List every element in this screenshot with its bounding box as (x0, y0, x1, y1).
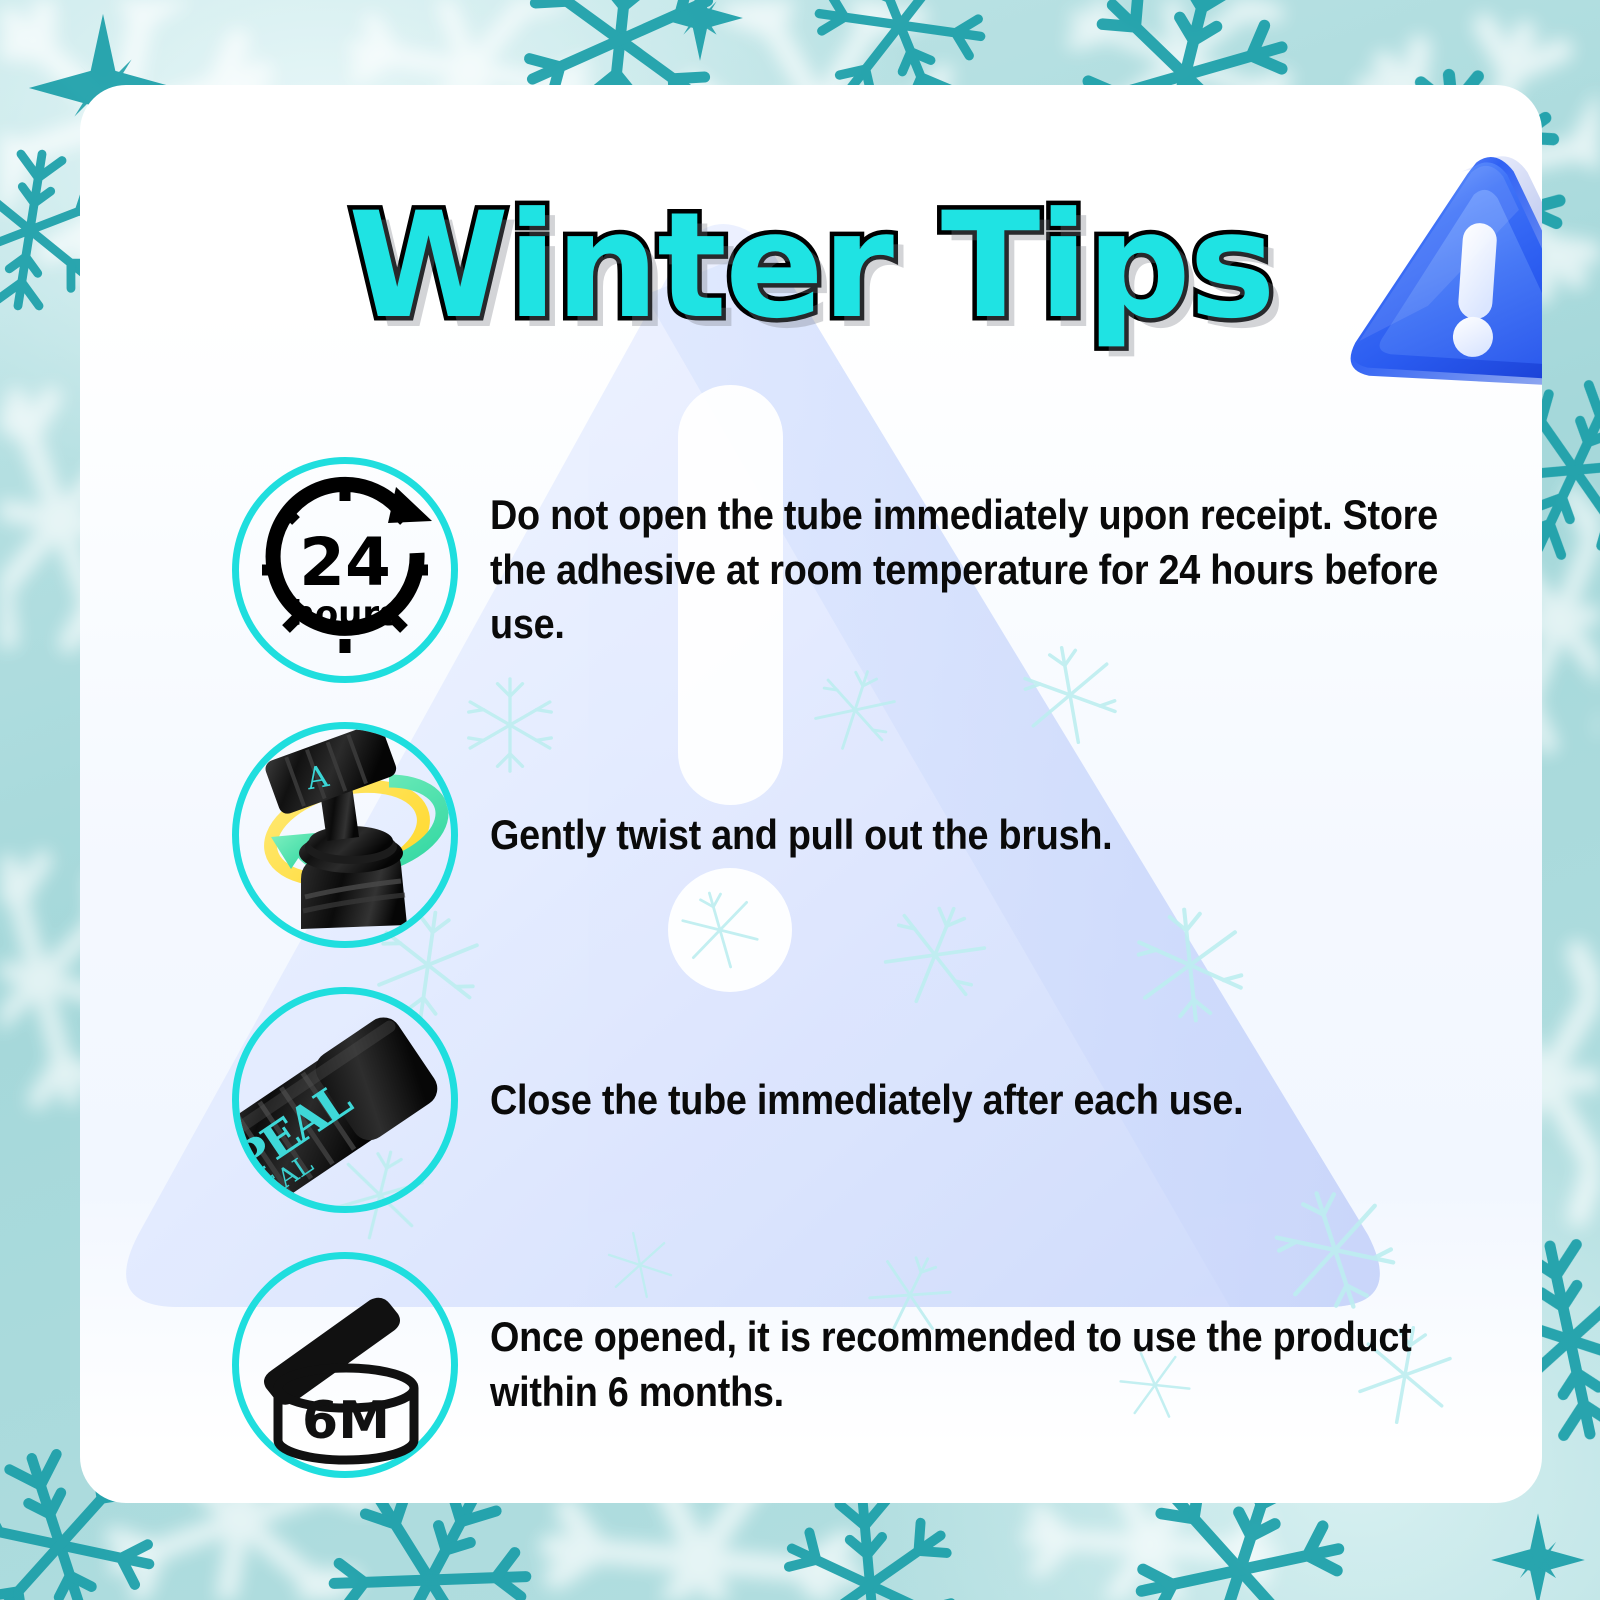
tip-row-period-after-opening: 6M Once opened, it is recommended to use… (232, 1252, 1542, 1478)
icon-clip: A (239, 729, 451, 941)
tips-card: Winter Tips (80, 85, 1542, 1503)
tip-icon-1: A (232, 722, 458, 948)
twist-cap-icon: A (239, 729, 451, 941)
warning-triangle-icon (1326, 129, 1542, 429)
tip-row-twist-cap: A Gently twist and pull out the brush. (232, 722, 1542, 948)
card-inner: Winter Tips (80, 85, 1542, 1503)
clock-hours-number: 24 (299, 524, 391, 601)
tip-row-close-tube: P E A L SEAL Cl (232, 987, 1542, 1213)
tip-text-3: Once opened, it is recommended to use th… (490, 1310, 1464, 1419)
tip-icon-3: 6M (232, 1252, 458, 1478)
icon-clip: P E A L SEAL (239, 994, 451, 1206)
warning-triangle-badge (1326, 129, 1542, 429)
period-after-opening-icon: 6M (232, 1252, 458, 1478)
tip-text-0: Do not open the tube immediately upon re… (490, 488, 1464, 652)
pao-months-label: 6M (302, 1391, 390, 1451)
clock-hours-unit: hours (291, 594, 400, 634)
tip-icon-0: 24 hours (232, 457, 458, 683)
tip-text-2: Close the tube immediately after each us… (490, 1073, 1464, 1128)
tip-icon-2: P E A L SEAL (232, 987, 458, 1213)
tip-text-1: Gently twist and pull out the brush. (490, 808, 1464, 863)
24-hours-clock-icon: 24 hours (232, 457, 458, 683)
tip-row-24-hours: 24 hours Do not open the tube immediatel… (232, 457, 1542, 683)
closed-tube-icon: P E A L SEAL (239, 994, 451, 1206)
